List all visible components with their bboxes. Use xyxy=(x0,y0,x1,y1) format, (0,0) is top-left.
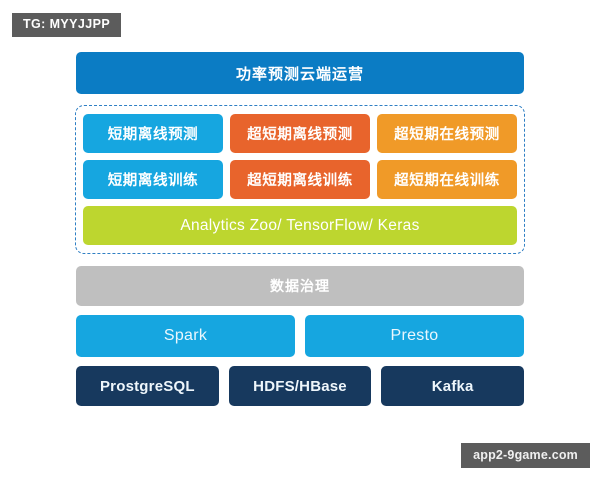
cell-short-term-offline-prediction[interactable]: 短期离线预测 xyxy=(83,114,223,153)
prediction-row: 短期离线预测 超短期离线预测 超短期在线预测 xyxy=(83,114,517,153)
compute-engine-row: Spark Presto xyxy=(76,315,524,357)
cell-ultra-short-term-online-prediction[interactable]: 超短期在线预测 xyxy=(377,114,517,153)
engine-presto[interactable]: Presto xyxy=(305,315,524,357)
architecture-diagram: 功率预测云端运营 短期离线预测 超短期离线预测 超短期在线预测 短期离线训练 超… xyxy=(76,52,524,406)
site-watermark: app2-9game.com xyxy=(461,443,590,469)
storage-kafka[interactable]: Kafka xyxy=(381,366,524,406)
cell-ultra-short-term-offline-training[interactable]: 超短期离线训练 xyxy=(230,160,370,199)
tg-watermark: TG: MYYJJPP xyxy=(12,13,121,37)
top-banner: 功率预测云端运营 xyxy=(76,52,524,94)
framework-bar[interactable]: Analytics Zoo/ TensorFlow/ Keras xyxy=(83,206,517,245)
cell-ultra-short-term-offline-prediction[interactable]: 超短期离线预测 xyxy=(230,114,370,153)
data-governance-band[interactable]: 数据治理 xyxy=(76,266,524,306)
training-row: 短期离线训练 超短期离线训练 超短期在线训练 xyxy=(83,160,517,199)
engine-spark[interactable]: Spark xyxy=(76,315,295,357)
cell-short-term-offline-training[interactable]: 短期离线训练 xyxy=(83,160,223,199)
storage-hdfs-hbase[interactable]: HDFS/HBase xyxy=(229,366,372,406)
storage-postgresql[interactable]: ProstgreSQL xyxy=(76,366,219,406)
cell-ultra-short-term-online-training[interactable]: 超短期在线训练 xyxy=(377,160,517,199)
platform-group-dashed-box: 短期离线预测 超短期离线预测 超短期在线预测 短期离线训练 超短期离线训练 超短… xyxy=(75,105,525,254)
storage-layer-row: ProstgreSQL HDFS/HBase Kafka xyxy=(76,366,524,406)
